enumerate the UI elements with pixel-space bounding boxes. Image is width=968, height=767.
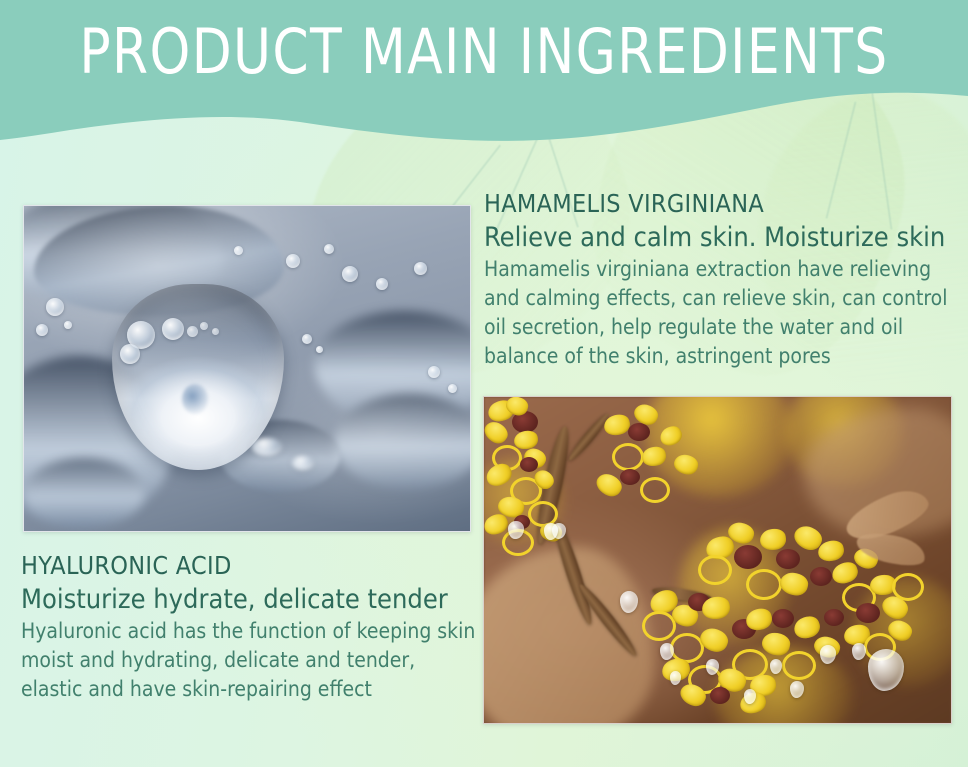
page-title: PRODUCT MAIN INGREDIENTS — [34, 16, 934, 88]
hyaluronic-acid-image — [23, 205, 471, 532]
hamamelis-description: Hamamelis virginiana extraction have rel… — [484, 255, 954, 371]
hamamelis-text-block: HAMAMELIS VIRGINIANA Relieve and calm sk… — [484, 188, 968, 371]
product-ingredients-poster: PRODUCT MAIN INGREDIENTS — [0, 0, 968, 767]
hamamelis-heading: HAMAMELIS VIRGINIANA — [484, 188, 968, 220]
hyaluronic-description: Hyaluronic acid has the function of keep… — [21, 617, 481, 704]
hyaluronic-text-block: HYALURONIC ACID Moisturize hydrate, deli… — [21, 550, 491, 704]
header-band: PRODUCT MAIN INGREDIENTS — [0, 0, 968, 160]
hyaluronic-tagline: Moisturize hydrate, delicate tender — [21, 582, 491, 617]
hyaluronic-heading: HYALURONIC ACID — [21, 550, 491, 582]
hamamelis-virginiana-image — [483, 396, 952, 724]
hamamelis-tagline: Relieve and calm skin. Moisturize skin — [484, 220, 968, 255]
